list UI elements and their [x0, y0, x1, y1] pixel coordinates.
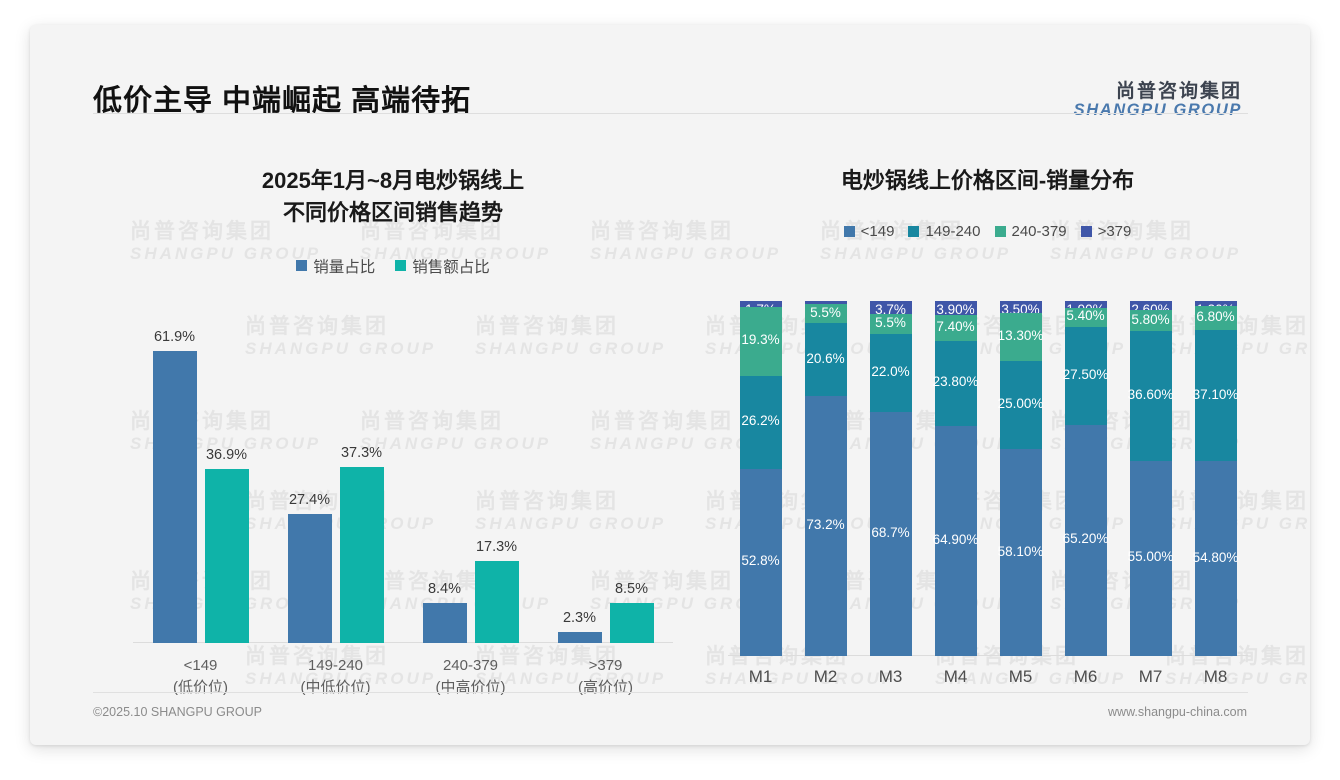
stack-segment-label: 7.40%	[936, 319, 974, 334]
left-legend-item-1[interactable]: 销售额占比	[395, 255, 490, 277]
chart-title-right: 电炒锅线上价格区间-销量分布	[710, 165, 1265, 197]
right-legend-item-1[interactable]: 149-240	[908, 223, 980, 240]
stack-segment-label: 73.2%	[806, 517, 844, 532]
stack-segment-240-379: 5.5%	[805, 304, 847, 324]
logo-english-text: SHANGPU GROUP	[1074, 102, 1242, 119]
x-axis-label-M5: M5	[1009, 667, 1033, 687]
right-legend-label-1: 149-240	[925, 223, 980, 240]
x-axis-label-M8: M8	[1204, 667, 1228, 687]
right-legend-item-3[interactable]: >379	[1081, 223, 1132, 240]
bar-rect	[475, 561, 519, 643]
stack-segment-label: 5.5%	[875, 315, 906, 330]
bar-rect	[288, 514, 332, 643]
x-axis-label-range: 240-379	[436, 655, 506, 677]
stack-segment-149-240: 36.60%	[1130, 331, 1172, 461]
stack-segment-240-379: 7.40%	[935, 315, 977, 341]
stack-segment-label: 64.90%	[933, 532, 979, 547]
stack-segment-<149: 58.10%	[1000, 449, 1042, 655]
chart-title-left: 2025年1月~8月电炒锅线上 不同价格区间销售趋势	[93, 165, 693, 229]
x-axis-label-M2: M2	[814, 667, 838, 687]
bar-value-label: 37.3%	[341, 445, 382, 461]
footer-website: www.shangpu-china.com	[1108, 705, 1247, 719]
left-legend-label-0: 销量占比	[313, 255, 375, 277]
x-axis-label-M1: M1	[749, 667, 773, 687]
left-legend-swatch-icon-0	[296, 260, 307, 271]
stack-segment-label: 19.3%	[741, 332, 779, 347]
stack-segment->379: 1.90%	[1065, 301, 1107, 308]
bar-value-label: 2.3%	[563, 610, 596, 626]
right-legend-label-0: <149	[861, 223, 895, 240]
stack-segment-label: 68.7%	[871, 525, 909, 540]
bar-149-240-销售额占比[interactable]: 37.3%	[340, 313, 384, 643]
stack-segment-label: 20.6%	[806, 351, 844, 366]
stack-segment-label: 5.5%	[810, 305, 841, 320]
bar-149-240-销量占比[interactable]: 27.4%	[288, 313, 332, 643]
right-legend-label-3: >379	[1098, 223, 1132, 240]
slide-canvas: 低价主导 中端崛起 高端待拓 尚普咨询集团 SHANGPU GROUP 尚普咨询…	[30, 25, 1310, 745]
stack-segment-149-240: 26.2%	[740, 376, 782, 469]
right-legend-swatch-icon-2	[995, 226, 1006, 237]
bar-rect	[423, 603, 467, 643]
x-axis-label-tier: (低价位)	[173, 677, 228, 699]
stack-segment-<149: 64.90%	[935, 426, 977, 656]
stack-segment-149-240: 23.80%	[935, 341, 977, 425]
stack-segment-label: 5.80%	[1131, 312, 1169, 327]
stack-segment-<149: 65.20%	[1065, 425, 1107, 656]
bar-value-label: 17.3%	[476, 539, 517, 555]
stack-segment-label: 37.10%	[1193, 387, 1239, 402]
x-axis-label-M4: M4	[944, 667, 968, 687]
x-axis-label-tier: (中低价位)	[301, 677, 371, 699]
right-legend-swatch-icon-3	[1081, 226, 1092, 237]
bar-group-0: 61.9%36.9%	[133, 313, 268, 643]
bar->379-销量占比[interactable]: 2.3%	[558, 313, 602, 643]
stack-segment-label: 52.8%	[741, 553, 779, 568]
stack-segment-240-379: 19.3%	[740, 307, 782, 376]
chart-plot-area-right: 1.7%19.3%26.2%52.8%0.8%5.5%20.6%73.2%3.7…	[728, 301, 1248, 656]
stack-segment-240-379: 5.40%	[1065, 308, 1107, 327]
stack-segment-149-240: 25.00%	[1000, 361, 1042, 450]
bar-value-label: 36.9%	[206, 447, 247, 463]
bar-240-379-销量占比[interactable]: 8.4%	[423, 313, 467, 643]
bar-<149-销售额占比[interactable]: 36.9%	[205, 313, 249, 643]
chart-plot-area-left: 61.9%36.9%27.4%37.3%8.4%17.3%2.3%8.5%	[133, 313, 673, 643]
stacked-bar-M5[interactable]: 3.50%13.30%25.00%58.10%	[1000, 301, 1042, 656]
bar-value-label: 8.4%	[428, 581, 461, 597]
stack-segment-149-240: 22.0%	[870, 334, 912, 412]
chart-panel-price-distribution: 电炒锅线上价格区间-销量分布 <149149-240240-379>379 1.…	[710, 143, 1265, 703]
stacked-bar-M8[interactable]: 1.30%6.80%37.10%54.80%	[1195, 301, 1237, 656]
stack-segment-<149: 73.2%	[805, 396, 847, 656]
bar-rect	[340, 467, 384, 643]
stack-segment->379: 3.50%	[1000, 301, 1042, 313]
footer-divider	[93, 692, 1248, 693]
bar-group-1: 27.4%37.3%	[268, 313, 403, 643]
stack-segment-label: 65.20%	[1063, 531, 1109, 546]
stack-segment-label: 6.80%	[1196, 309, 1234, 324]
stack-segment-240-379: 13.30%	[1000, 313, 1042, 360]
x-axis-labels-right: M1M2M3M4M5M6M7M8	[728, 663, 1248, 703]
stacked-bar-M1[interactable]: 1.7%19.3%26.2%52.8%	[740, 301, 782, 656]
bar-240-379-销售额占比[interactable]: 17.3%	[475, 313, 519, 643]
stack-segment-label: 25.00%	[998, 396, 1044, 411]
x-axis-label-M7: M7	[1139, 667, 1163, 687]
bar-value-label: 27.4%	[289, 492, 330, 508]
x-axis-label-range: >379	[578, 655, 633, 677]
chart-title-left-line1: 2025年1月~8月电炒锅线上	[93, 165, 693, 197]
x-axis-label-range: <149	[173, 655, 228, 677]
stacked-bar-M6[interactable]: 1.90%5.40%27.50%65.20%	[1065, 301, 1107, 656]
logo-chinese-text: 尚普咨询集团	[1074, 82, 1242, 102]
stack-segment-240-379: 5.80%	[1130, 310, 1172, 331]
stack-segment-label: 54.80%	[1193, 550, 1239, 565]
stack-segment-label: 26.2%	[741, 413, 779, 428]
chart-panel-sales-trend: 2025年1月~8月电炒锅线上 不同价格区间销售趋势 销量占比销售额占比 61.…	[93, 143, 693, 703]
slide-header: 低价主导 中端崛起 高端待拓 尚普咨询集团 SHANGPU GROUP	[30, 25, 1310, 113]
left-legend-swatch-icon-1	[395, 260, 406, 271]
stack-segment-240-379: 5.5%	[870, 314, 912, 334]
stacked-bar-M3[interactable]: 3.7%5.5%22.0%68.7%	[870, 301, 912, 656]
stack-segment-240-379: 6.80%	[1195, 306, 1237, 330]
stack-segment-<149: 54.80%	[1195, 461, 1237, 656]
stack-segment->379: 3.7%	[870, 301, 912, 314]
bar-<149-销量占比[interactable]: 61.9%	[153, 313, 197, 643]
right-legend-item-0[interactable]: <149	[844, 223, 895, 240]
stack-segment-label: 58.10%	[998, 544, 1044, 559]
stack-segment-149-240: 20.6%	[805, 323, 847, 396]
x-axis-label-M3: M3	[879, 667, 903, 687]
stack-segment-149-240: 37.10%	[1195, 330, 1237, 462]
stack-segment-<149: 55.00%	[1130, 461, 1172, 656]
stack-segment-label: 27.50%	[1063, 367, 1109, 382]
left-legend-label-1: 销售额占比	[412, 255, 490, 277]
chart-legend-right: <149149-240240-379>379	[710, 223, 1265, 240]
right-legend-item-2[interactable]: 240-379	[995, 223, 1067, 240]
x-axis-label-tier: (中高价位)	[436, 677, 506, 699]
x-axis-label-tier: (高价位)	[578, 677, 633, 699]
x-axis-labels-left: <149(低价位)149-240(中低价位)240-379(中高价位)>379(…	[133, 649, 673, 709]
stack-segment-<149: 68.7%	[870, 412, 912, 656]
right-legend-swatch-icon-1	[908, 226, 919, 237]
bar-value-label: 8.5%	[615, 581, 648, 597]
bar-rect	[610, 603, 654, 643]
bar-value-label: 61.9%	[154, 329, 195, 345]
stack-segment->379: 3.90%	[935, 301, 977, 315]
stack-segment-label: 13.30%	[998, 328, 1044, 343]
footer-copyright: ©2025.10 SHANGPU GROUP	[93, 705, 262, 719]
stacked-bar-M7[interactable]: 2.60%5.80%36.60%55.00%	[1130, 301, 1172, 656]
x-axis-label-range: 149-240	[301, 655, 371, 677]
left-legend-item-0[interactable]: 销量占比	[296, 255, 375, 277]
bar-rect	[558, 632, 602, 643]
stack-segment-label: 55.00%	[1128, 549, 1174, 564]
stacked-bar-M2[interactable]: 0.8%5.5%20.6%73.2%	[805, 301, 847, 656]
stack-segment-label: 5.40%	[1066, 308, 1104, 323]
header-divider	[93, 113, 1248, 114]
x-axis-label-M6: M6	[1074, 667, 1098, 687]
stack-segment->379: 2.60%	[1130, 301, 1172, 310]
stacked-bar-M4[interactable]: 3.90%7.40%23.80%64.90%	[935, 301, 977, 656]
bar->379-销售额占比[interactable]: 8.5%	[610, 313, 654, 643]
stack-segment-<149: 52.8%	[740, 469, 782, 656]
right-legend-swatch-icon-0	[844, 226, 855, 237]
chart-title-left-line2: 不同价格区间销售趋势	[93, 197, 693, 229]
chart-legend-left: 销量占比销售额占比	[93, 255, 693, 277]
bar-rect	[153, 351, 197, 643]
stack-segment-149-240: 27.50%	[1065, 327, 1107, 425]
bar-rect	[205, 469, 249, 643]
stack-segment-label: 36.60%	[1128, 387, 1174, 402]
bar-group-3: 2.3%8.5%	[538, 313, 673, 643]
stack-segment-label: 23.80%	[933, 374, 979, 389]
bar-group-2: 8.4%17.3%	[403, 313, 538, 643]
right-legend-label-2: 240-379	[1012, 223, 1067, 240]
stack-segment-label: 22.0%	[871, 364, 909, 379]
